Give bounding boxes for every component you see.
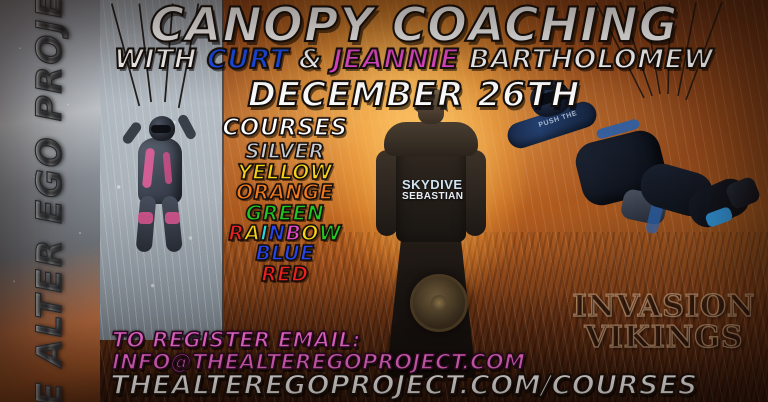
watermark-line-2: VIKINGS (560, 323, 768, 354)
course-level-blue: BLUE (210, 243, 360, 263)
skydiver-left-leg-left (136, 195, 157, 252)
course-level-red: RED (210, 264, 360, 284)
instructor-surname: BARTHOLOMEW (459, 44, 714, 75)
viking-shoulders (384, 122, 478, 156)
subtitle-ampersand: & (289, 44, 333, 75)
subtitle-line: WITH CURT & JEANNIE BARTHOLOMEW (0, 46, 768, 73)
subtitle-with: WITH (114, 44, 207, 75)
instructor-name-curt: CURT (207, 44, 289, 75)
register-prompt: TO REGISTER EMAIL: (112, 330, 525, 352)
watermark-invasion-vikings: INVASION VIKINGS (560, 292, 768, 353)
skydiver-left-leg-right (161, 195, 183, 252)
course-level-orange: ORANGE (210, 182, 360, 202)
jersey-line-1: SKYDIVE (402, 178, 460, 192)
courses-heading: COURSES (210, 117, 360, 140)
rainbow-letter-r: R (229, 221, 245, 245)
viking-arm-right (464, 150, 486, 236)
viking-shield (410, 274, 468, 332)
course-level-yellow: YELLOW (210, 162, 360, 182)
course-level-rainbow: RAINBOW (210, 223, 360, 243)
instructor-name-jeannie: JEANNIE (333, 44, 460, 75)
watermark-line-1: INVASION (560, 292, 768, 323)
promo-flyer: SKYDIVE SEBASTIAN PUSH THE (0, 0, 768, 402)
skydiver-left-arm-right (176, 113, 197, 141)
rainbow-letter-w: W (319, 221, 342, 245)
event-date: DECEMBER 26TH (0, 78, 768, 112)
course-level-silver: SILVER (210, 141, 360, 161)
skydiver-left-pad-left (138, 212, 153, 224)
skydiver-left-arm-left (121, 120, 143, 145)
skydiver-left-pad-right (165, 212, 180, 224)
skydiver-left-visor (151, 125, 171, 133)
skydiver-left-figure (114, 92, 206, 252)
viking-arm-left (376, 150, 398, 236)
jersey-line-2: SEBASTIAN (402, 192, 460, 203)
footer-url[interactable]: THEALTEREGOPROJECT.COM/COURSES (0, 370, 768, 401)
viking-jersey-text: SKYDIVE SEBASTIAN (402, 178, 460, 202)
courses-list: COURSES SILVER YELLOW ORANGE GREEN RAINB… (210, 117, 360, 284)
page-title: CANOPY COACHING (0, 2, 768, 49)
course-level-green: GREEN (210, 203, 360, 223)
registration-info: TO REGISTER EMAIL: INFO@THEALTEREGOPROJE… (112, 330, 525, 374)
